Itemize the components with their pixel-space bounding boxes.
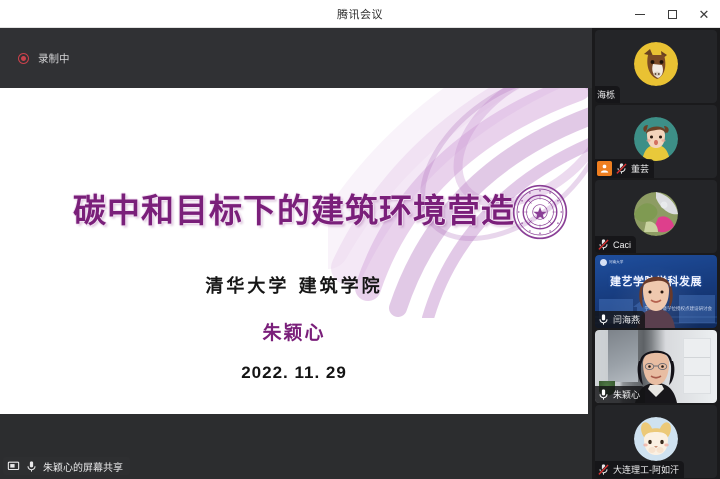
- avatar: [634, 42, 678, 86]
- slide-content: 碳中和目标下的建筑环境营造 清华大学 建筑学院 朱颖心 2022. 11. 29: [0, 88, 588, 414]
- participant-tile[interactable]: 河南大学 建艺学院学科发展 学科发展暨学位授权点建设研讨会: [595, 255, 717, 328]
- horse-avatar-icon: [634, 42, 678, 86]
- university-logo-icon: [600, 259, 607, 266]
- avatar: [634, 192, 678, 236]
- screen-share-label: 朱颖心的屏幕共享: [43, 459, 123, 474]
- tile-footer: 朱颖心: [595, 386, 645, 403]
- close-button[interactable]: ✕: [688, 0, 720, 28]
- bunny-cartoon-avatar-icon: [634, 417, 678, 461]
- titlebar: 腾讯会议 ✕: [0, 0, 720, 28]
- avatar: [634, 417, 678, 461]
- microphone-muted-icon: [615, 162, 628, 175]
- photo-avatar-icon: [634, 192, 678, 236]
- tile-footer: Caci: [595, 236, 636, 253]
- woman-illustration-avatar-icon: [634, 117, 678, 161]
- slide-date: 2022. 11. 29: [241, 363, 347, 383]
- participant-name: 大连理工-阿如汗: [613, 463, 679, 476]
- recording-indicator: 录制中: [18, 51, 70, 66]
- participant-filmstrip[interactable]: 海栎: [592, 28, 720, 479]
- microphone-icon: [597, 388, 610, 401]
- tile-footer: 大连理工-阿如汗: [595, 461, 684, 478]
- participant-name: 闫海燕: [613, 313, 640, 326]
- maximize-icon: [668, 10, 677, 19]
- minimize-button[interactable]: [624, 0, 656, 28]
- microphone-muted-icon: [597, 238, 610, 251]
- host-badge: [597, 161, 612, 176]
- virtual-background-logo: 河南大学: [600, 259, 623, 266]
- host-person-icon: [599, 163, 610, 174]
- recording-bar: 录制中: [0, 28, 592, 88]
- minimize-icon: [635, 14, 645, 15]
- screen-share-icon: [7, 460, 20, 473]
- participant-name: 海栎: [597, 88, 615, 101]
- participant-name: Caci: [613, 240, 631, 250]
- tile-footer: 海栎: [595, 86, 620, 103]
- stage-letterbox: 朱颖心的屏幕共享: [0, 414, 592, 479]
- shared-screen-stage[interactable]: 录制中: [0, 28, 592, 479]
- recording-label: 录制中: [38, 51, 70, 66]
- participant-tile[interactable]: 大连理工-阿如汗: [595, 405, 717, 478]
- tile-footer: 董芸: [595, 159, 654, 178]
- room-shelf: [683, 338, 711, 394]
- tencent-meeting-window: 腾讯会议 ✕ 录制中: [0, 0, 720, 479]
- participant-tile[interactable]: 董芸: [595, 105, 717, 178]
- record-dot-icon: [18, 53, 29, 64]
- tile-footer: 闫海燕: [595, 311, 645, 328]
- participant-tile[interactable]: 海栎: [595, 30, 717, 103]
- microphone-icon: [25, 460, 38, 473]
- participant-tile[interactable]: 朱颖心: [595, 330, 717, 403]
- slide-title: 碳中和目标下的建筑环境营造: [73, 184, 515, 232]
- window-title: 腾讯会议: [337, 6, 383, 22]
- slide-speaker: 朱颖心: [262, 318, 325, 345]
- microphone-muted-icon: [597, 463, 610, 476]
- presentation-slide: 碳中和目标下的建筑环境营造 清华大学 建筑学院 朱颖心 2022. 11. 29: [0, 88, 588, 414]
- participant-name: 董芸: [631, 162, 649, 175]
- participant-tile[interactable]: Caci: [595, 180, 717, 253]
- participant-name: 朱颖心: [613, 388, 640, 401]
- microphone-icon: [597, 313, 610, 326]
- virtual-background-logo-text: 河南大学: [609, 260, 623, 265]
- maximize-button[interactable]: [656, 0, 688, 28]
- screen-share-badge: 朱颖心的屏幕共享: [3, 457, 130, 475]
- avatar: [634, 117, 678, 161]
- window-controls: ✕: [624, 0, 720, 28]
- close-icon: ✕: [699, 8, 710, 21]
- slide-affiliation: 清华大学 建筑学院: [205, 272, 382, 298]
